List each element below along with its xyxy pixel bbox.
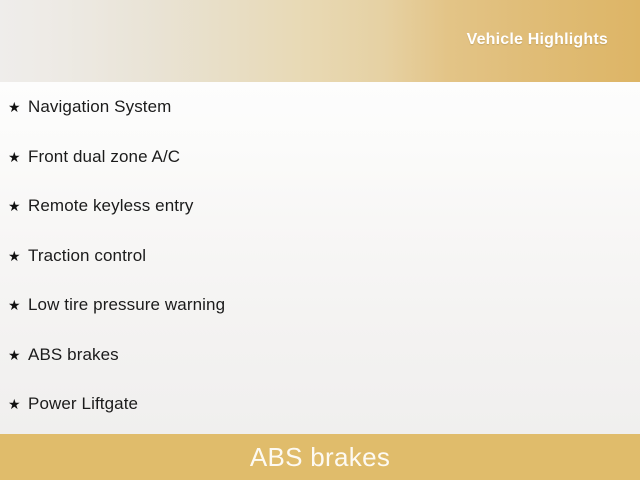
star-bullet-icon: ★ xyxy=(8,348,28,362)
highlight-item: ★Traction control xyxy=(8,245,146,267)
footer-caption-text: ABS brakes xyxy=(250,442,390,472)
vehicle-highlights-slide: Vehicle Highlights ★Navigation System★Fr… xyxy=(0,0,640,480)
star-bullet-icon: ★ xyxy=(8,298,28,312)
highlight-item: ★Navigation System xyxy=(8,96,171,118)
header-band: Vehicle Highlights xyxy=(0,0,640,82)
star-bullet-icon: ★ xyxy=(8,150,28,164)
highlight-item-label: Low tire pressure warning xyxy=(28,295,225,315)
highlights-panel: ★Navigation System★Front dual zone A/C★R… xyxy=(0,82,640,434)
highlight-item: ★Low tire pressure warning xyxy=(8,294,225,316)
highlight-item-label: Power Liftgate xyxy=(28,394,138,414)
star-bullet-icon: ★ xyxy=(8,199,28,213)
page-title: Vehicle Highlights xyxy=(467,31,608,49)
star-bullet-icon: ★ xyxy=(8,397,28,411)
highlight-item: ★Power Liftgate xyxy=(8,393,138,415)
highlight-item: ★Front dual zone A/C xyxy=(8,146,180,168)
highlight-item-label: ABS brakes xyxy=(28,345,119,365)
star-bullet-icon: ★ xyxy=(8,249,28,263)
highlight-item: ★Remote keyless entry xyxy=(8,195,193,217)
highlight-item-label: Remote keyless entry xyxy=(28,196,193,216)
highlight-item-label: Traction control xyxy=(28,246,146,266)
star-bullet-icon: ★ xyxy=(8,100,28,114)
highlight-item-label: Navigation System xyxy=(28,97,171,117)
footer-caption-bar: ABS brakes xyxy=(0,434,640,480)
highlight-item-label: Front dual zone A/C xyxy=(28,147,180,167)
highlight-item: ★ABS brakes xyxy=(8,344,119,366)
